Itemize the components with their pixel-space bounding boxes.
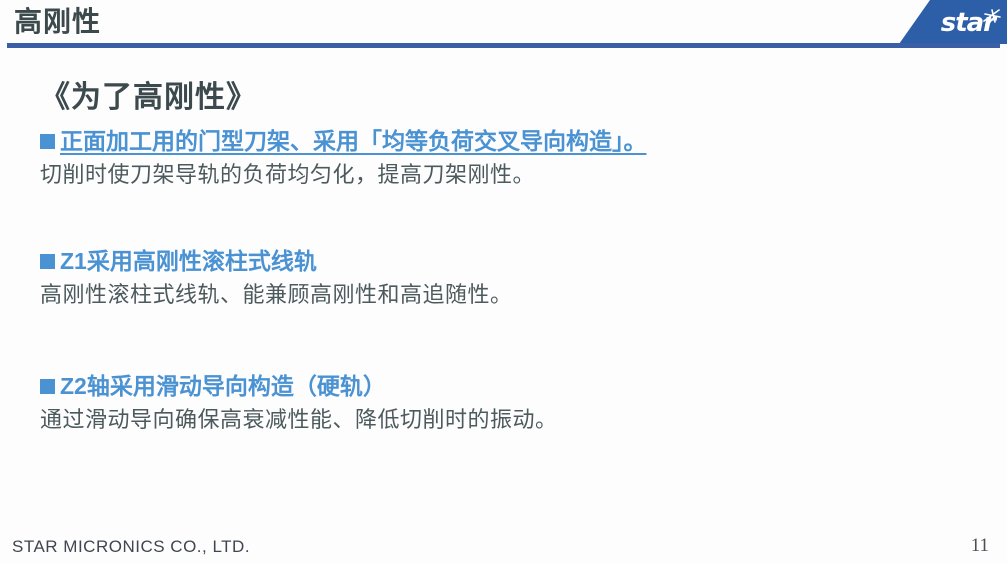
header-divider [7, 43, 1000, 48]
bullet-heading-1: 正面加工用的门型刀架、采用「均等负荷交叉导向构造」。 [60, 126, 647, 156]
slide-heading: 《为了高刚性》 [40, 72, 257, 116]
body-text-3: 通过滑动导向确保高衰减性能、降低切削时的振动。 [40, 405, 960, 435]
slide-header: 高刚性 star [0, 0, 1007, 52]
page-number: 11 [971, 535, 989, 557]
square-bullet-icon [40, 379, 55, 394]
content-block-1: 正面加工用的门型刀架、采用「均等负荷交叉导向构造」。 切削时使刀架导轨的负荷均匀… [40, 126, 960, 190]
body-text-1: 切削时使刀架导轨的负荷均匀化，提高刀架刚性。 [40, 160, 960, 190]
bullet-heading-row: 正面加工用的门型刀架、采用「均等负荷交叉导向构造」。 [40, 126, 960, 156]
square-bullet-icon [40, 254, 55, 269]
bullet-heading-row: Z1采用高刚性滚柱式线轨 [40, 246, 960, 276]
square-bullet-icon [40, 134, 55, 149]
bullet-heading-2: Z1采用高刚性滚柱式线轨 [60, 246, 317, 276]
bullet-heading-3: Z2轴采用滑动导向构造（硬轨） [60, 371, 386, 401]
footer-company-name: STAR MICRONICS CO., LTD. [12, 537, 250, 557]
page-title: 高刚性 [14, 4, 101, 40]
content-block-3: Z2轴采用滑动导向构造（硬轨） 通过滑动导向确保高衰减性能、降低切削时的振动。 [40, 371, 960, 435]
bullet-heading-row: Z2轴采用滑动导向构造（硬轨） [40, 371, 960, 401]
content-block-2: Z1采用高刚性滚柱式线轨 高刚性滚柱式线轨、能兼顾高刚性和高追随性。 [40, 246, 960, 310]
body-text-2: 高刚性滚柱式线轨、能兼顾高刚性和高追随性。 [40, 280, 960, 310]
star-logo: star [855, 0, 1007, 44]
star-swoosh-icon [983, 9, 1001, 23]
slide-canvas: 高刚性 star 《为了高刚性》 正面加工用的门型刀架、采用「均等负荷交叉导向构… [0, 0, 1007, 564]
